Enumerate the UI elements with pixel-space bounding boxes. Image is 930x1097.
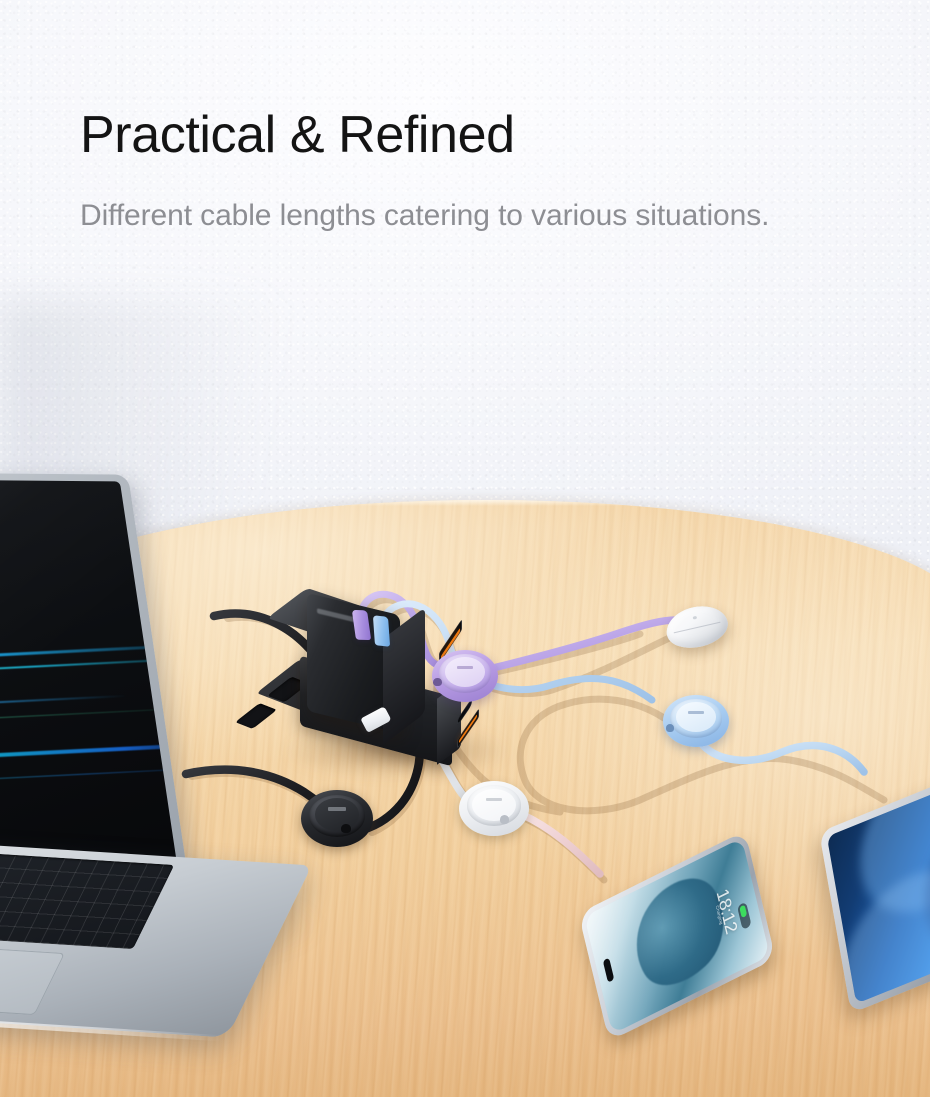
reel-cable-notch	[500, 815, 509, 824]
banner-stage: 18:12 Charging Practical & Refined Diffe…	[0, 0, 930, 1097]
headline: Practical & Refined	[80, 106, 840, 164]
cable-reel-purple[interactable]	[432, 650, 498, 702]
laptop-keyboard	[0, 847, 174, 949]
reel-cable-notch	[341, 824, 350, 833]
laptop	[0, 470, 330, 970]
reel-brand-mark	[328, 807, 345, 811]
subheadline: Different cable lengths catering to vari…	[80, 192, 800, 239]
earbuds-case-seam	[674, 621, 720, 633]
reel-brand-mark	[688, 711, 704, 715]
cable-reel-blue[interactable]	[663, 695, 729, 747]
text-block: Practical & Refined Different cable leng…	[80, 106, 840, 240]
usb-c-plug-blue[interactable]	[373, 615, 390, 647]
brand-label	[317, 608, 357, 623]
cable-reel-black[interactable]	[301, 790, 373, 847]
screen-glare	[0, 478, 179, 879]
laptop-trackpad	[0, 942, 65, 1015]
earbuds-case-led	[692, 616, 697, 620]
reel-brand-mark	[457, 666, 473, 670]
reel-brand-mark	[486, 798, 503, 802]
reel-cable-notch	[433, 678, 442, 686]
reel-cable-notch	[666, 724, 675, 732]
laptop-screen	[0, 478, 179, 879]
cable-reel-white[interactable]	[459, 781, 529, 836]
reel-inner	[315, 798, 360, 831]
reel-inner	[472, 789, 515, 821]
laptop-lid	[0, 471, 190, 890]
battery-fill	[739, 905, 747, 919]
